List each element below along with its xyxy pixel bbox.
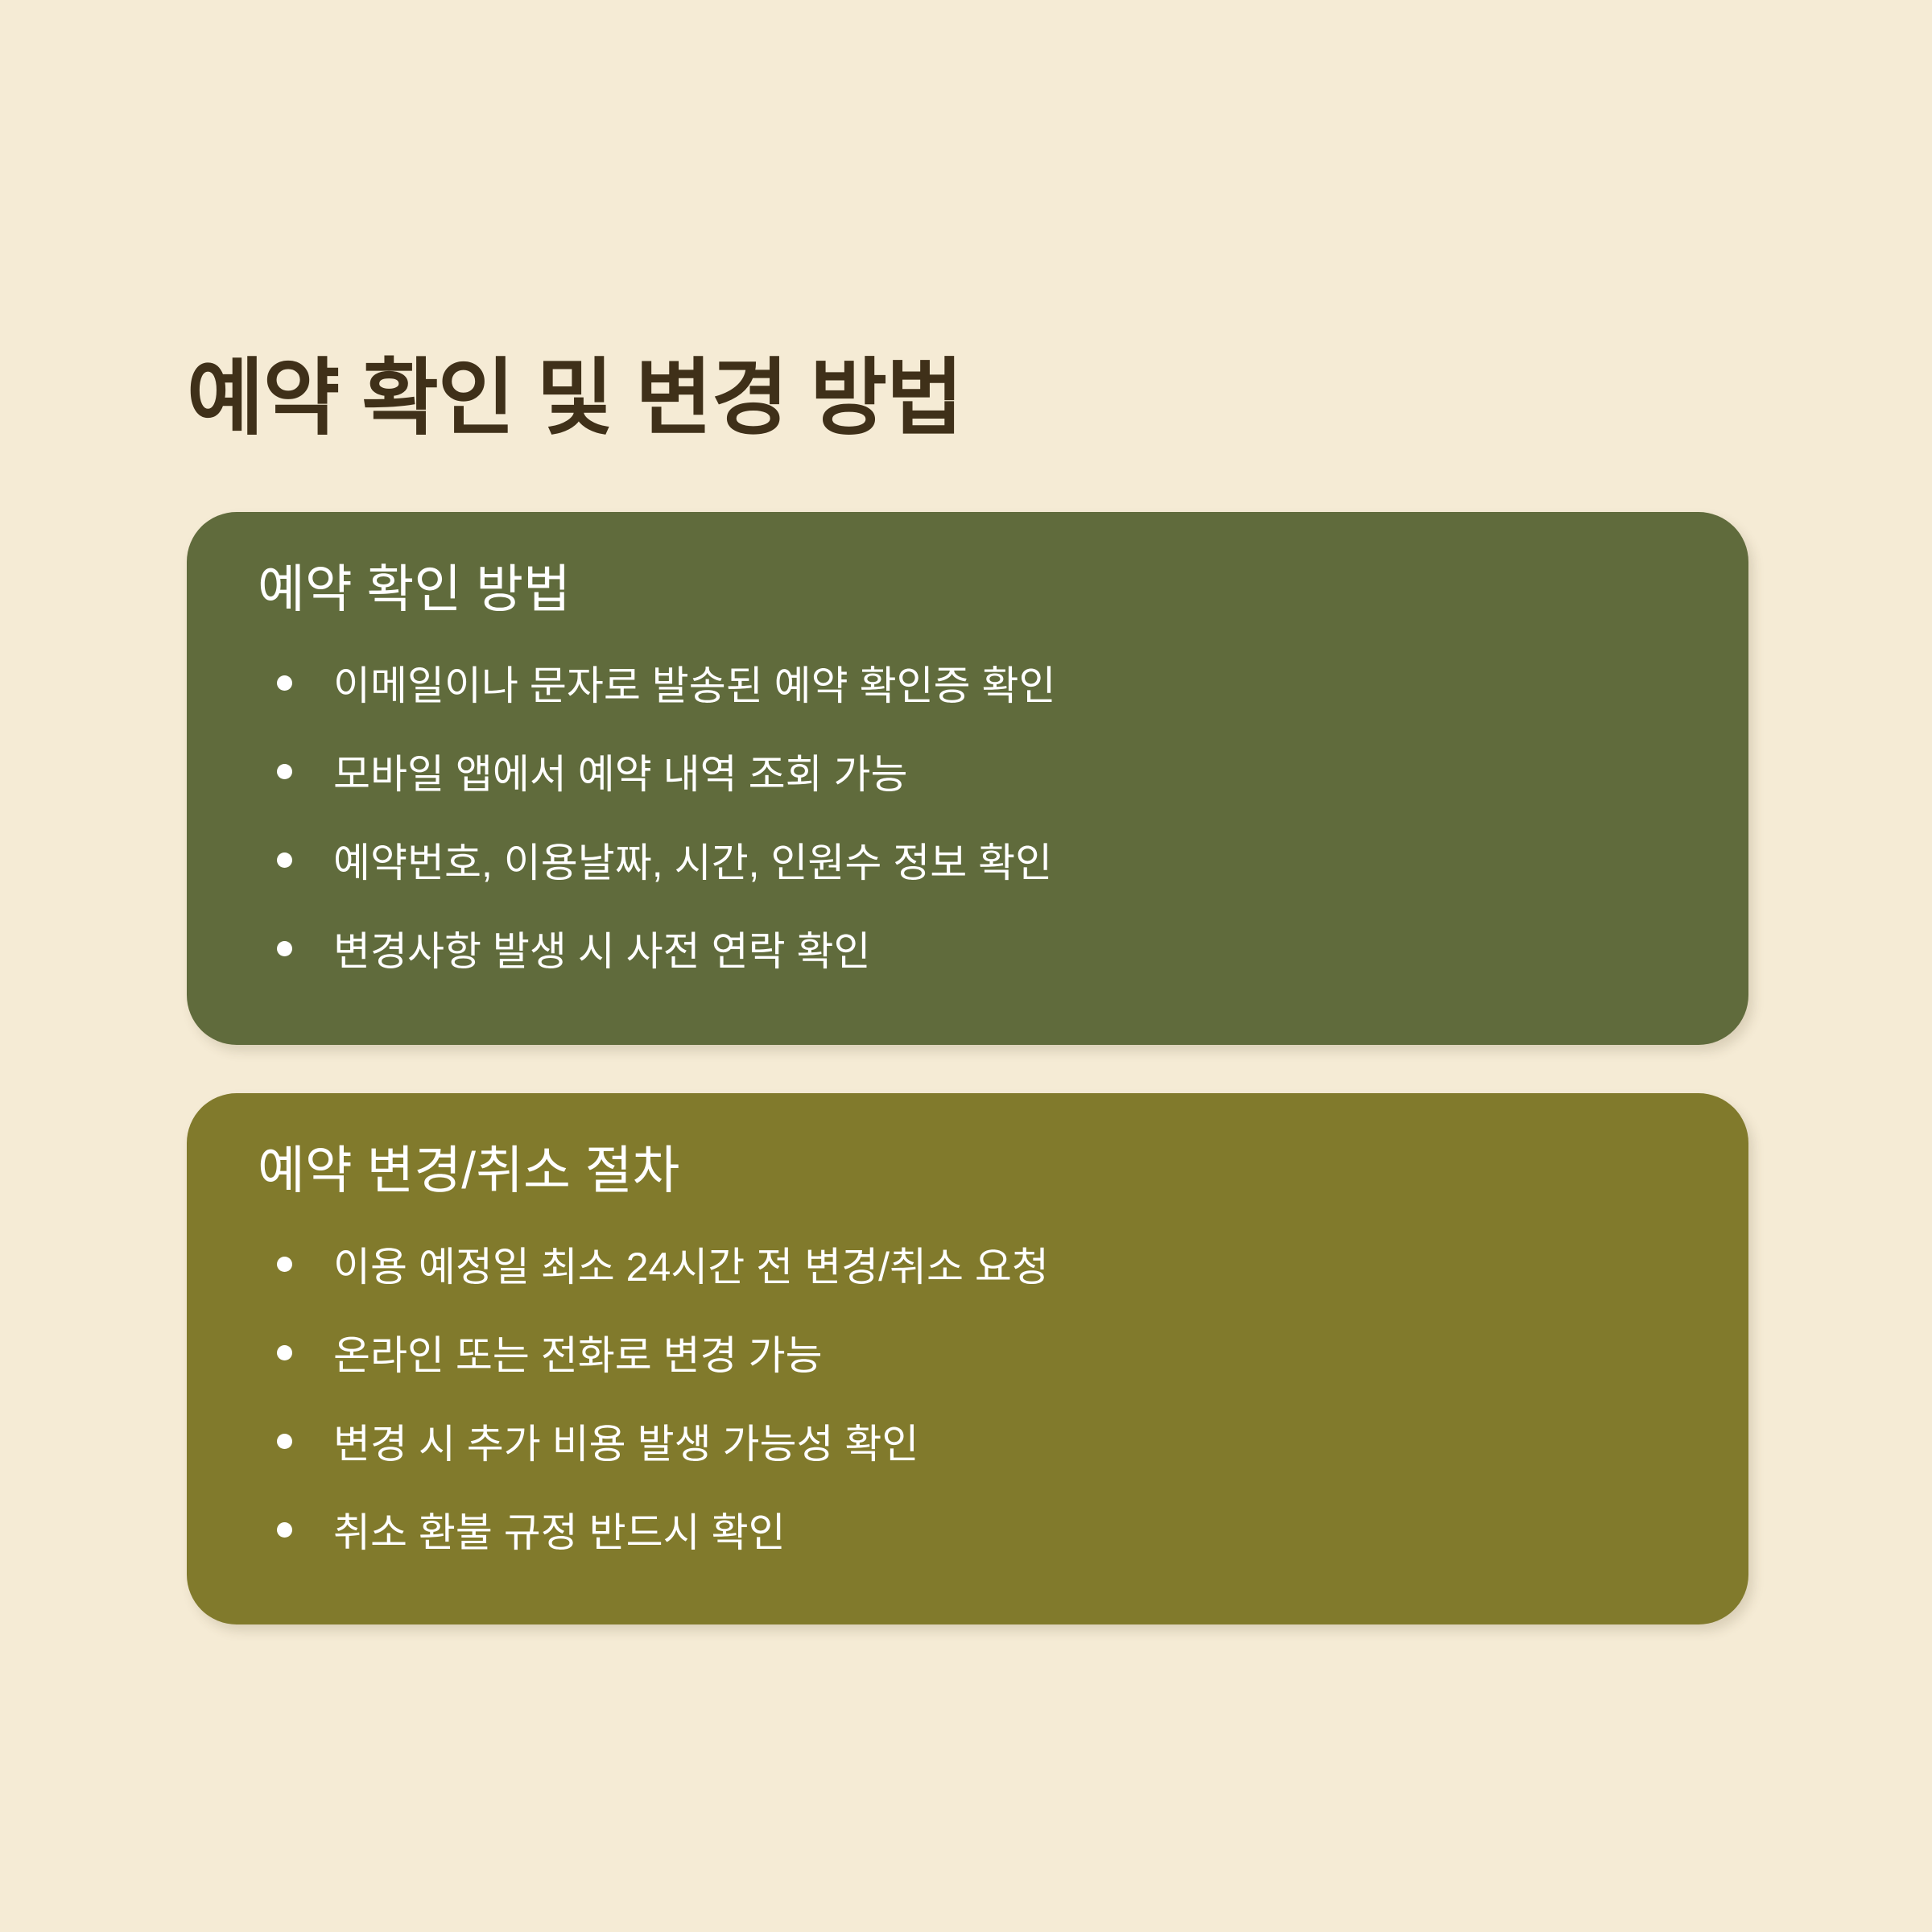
bullet-dot-icon (277, 1434, 292, 1449)
list-item: 예약번호, 이용날짜, 시간, 인원수 정보 확인 (238, 819, 1697, 907)
card-reservation-change-cancel: 예약 변경/취소 절차 이용 예정일 최소 24시간 전 변경/취소 요청 온라… (187, 1093, 1748, 1624)
slide-root: 예약 확인 및 변경 방법 예약 확인 방법 이메일이나 문자로 발송된 예약 … (0, 0, 1932, 1932)
bullet-list-reservation-change-cancel: 이용 예정일 최소 24시간 전 변경/취소 요청 온라인 또는 전화로 변경 … (238, 1223, 1697, 1577)
bullet-dot-icon (277, 941, 292, 956)
bullet-dot-icon (277, 675, 292, 691)
list-item: 이용 예정일 최소 24시간 전 변경/취소 요청 (238, 1223, 1697, 1311)
list-item-label: 모바일 앱에서 예약 내역 조회 가능 (333, 730, 907, 819)
bullet-dot-icon (277, 1345, 292, 1360)
list-item-label: 변경사항 발생 시 사전 연락 확인 (333, 907, 870, 996)
page-title: 예약 확인 및 변경 방법 (187, 346, 963, 451)
bullet-list-reservation-check: 이메일이나 문자로 발송된 예약 확인증 확인 모바일 앱에서 예약 내역 조회… (238, 642, 1697, 996)
list-item: 취소 환불 규정 반드시 확인 (238, 1488, 1697, 1577)
card-heading-reservation-change-cancel: 예약 변경/취소 절차 (258, 1140, 1697, 1202)
list-item: 모바일 앱에서 예약 내역 조회 가능 (238, 730, 1697, 819)
list-item: 온라인 또는 전화로 변경 가능 (238, 1311, 1697, 1400)
list-item-label: 온라인 또는 전화로 변경 가능 (333, 1311, 823, 1400)
bullet-dot-icon (277, 1522, 292, 1538)
list-item-label: 예약번호, 이용날짜, 시간, 인원수 정보 확인 (333, 819, 1052, 907)
card-reservation-check: 예약 확인 방법 이메일이나 문자로 발송된 예약 확인증 확인 모바일 앱에서… (187, 512, 1748, 1045)
list-item: 변경사항 발생 시 사전 연락 확인 (238, 907, 1697, 996)
bullet-dot-icon (277, 1257, 292, 1272)
list-item-label: 취소 환불 규정 반드시 확인 (333, 1488, 786, 1577)
card-heading-reservation-check: 예약 확인 방법 (258, 559, 1697, 621)
list-item-label: 이메일이나 문자로 발송된 예약 확인증 확인 (333, 642, 1055, 730)
list-item: 변경 시 추가 비용 발생 가능성 확인 (238, 1400, 1697, 1488)
bullet-dot-icon (277, 852, 292, 868)
bullet-dot-icon (277, 764, 292, 779)
list-item-label: 이용 예정일 최소 24시간 전 변경/취소 요청 (333, 1223, 1049, 1311)
list-item: 이메일이나 문자로 발송된 예약 확인증 확인 (238, 642, 1697, 730)
list-item-label: 변경 시 추가 비용 발생 가능성 확인 (333, 1400, 919, 1488)
